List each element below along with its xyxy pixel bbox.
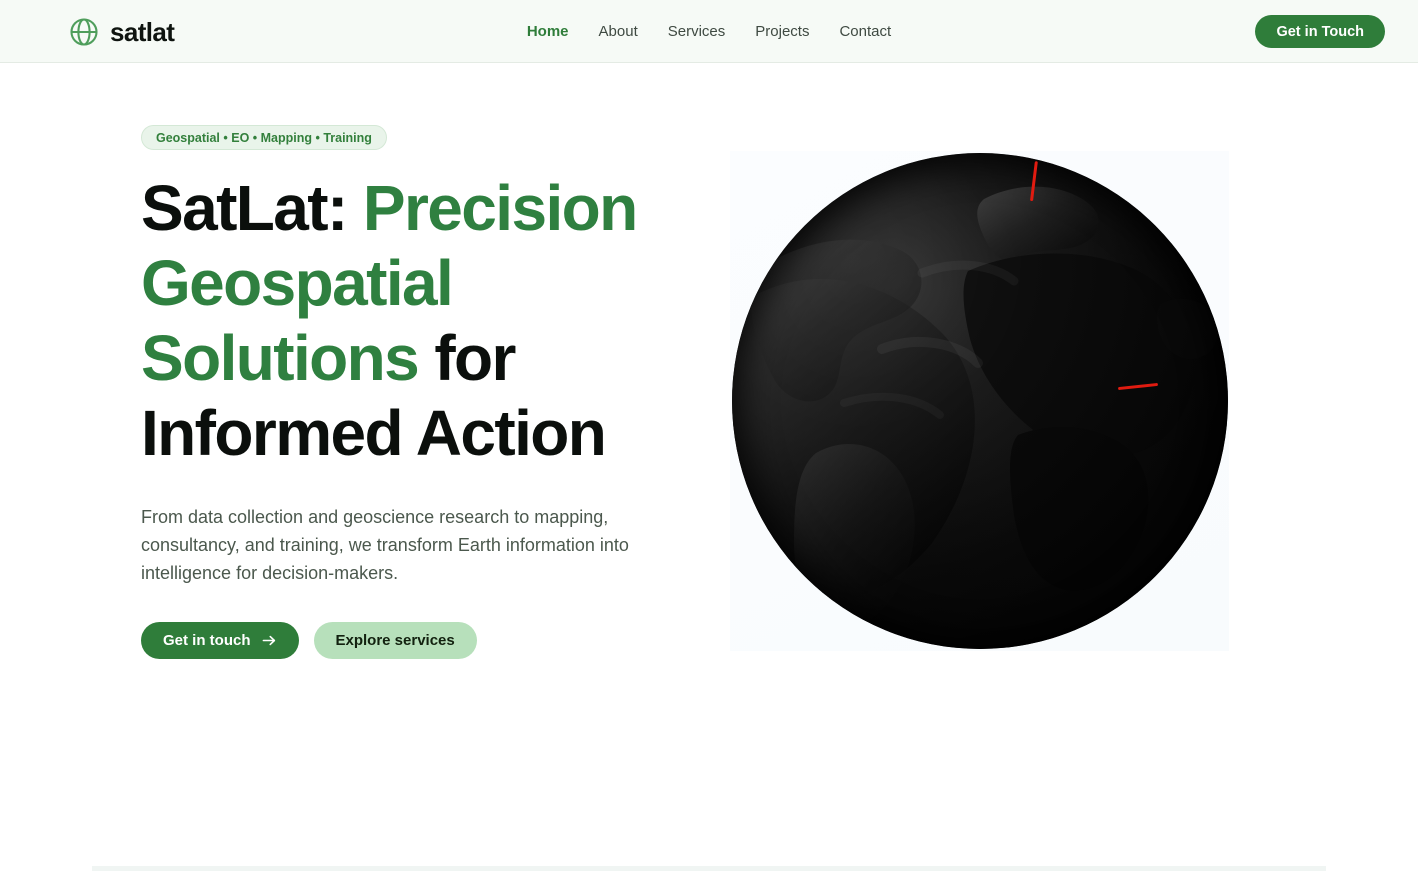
next-section-divider	[92, 866, 1326, 871]
brand-name: satlat	[110, 19, 174, 45]
hero-eyebrow-badge: Geospatial • EO • Mapping • Training	[141, 125, 387, 150]
globe-landmass-icon	[732, 153, 1228, 649]
hero-title-part-1: SatLat:	[141, 172, 363, 244]
hero-subtitle: From data collection and geoscience rese…	[141, 503, 646, 587]
nav-item-about[interactable]: About	[599, 24, 638, 39]
globe-sphere	[732, 153, 1228, 649]
brand-logo[interactable]: satlat	[68, 0, 174, 63]
earth-globe-visual[interactable]	[730, 151, 1229, 651]
site-header: satlat Home About Services Projects Cont…	[0, 0, 1418, 63]
hero-explore-services-button[interactable]: Explore services	[314, 622, 477, 659]
nav-item-contact[interactable]: Contact	[839, 24, 891, 39]
hero-primary-button-label: Get in touch	[163, 632, 251, 649]
nav-item-projects[interactable]: Projects	[755, 24, 809, 39]
nav-item-home[interactable]: Home	[527, 24, 569, 39]
nav-item-services[interactable]: Services	[668, 24, 726, 39]
hero-section: Geospatial • EO • Mapping • Training Sat…	[0, 63, 1418, 808]
get-in-touch-button[interactable]: Get in Touch	[1255, 15, 1385, 48]
hero-get-in-touch-button[interactable]: Get in touch	[141, 622, 299, 659]
hero-copy: Geospatial • EO • Mapping • Training Sat…	[141, 125, 661, 659]
globe-icon	[68, 16, 100, 48]
page-title: SatLat: Precision Geospatial Solutions f…	[141, 171, 641, 471]
main-navigation: Home About Services Projects Contact	[0, 0, 1418, 63]
arrow-right-icon	[262, 633, 277, 648]
hero-actions: Get in touch Explore services	[141, 622, 661, 659]
